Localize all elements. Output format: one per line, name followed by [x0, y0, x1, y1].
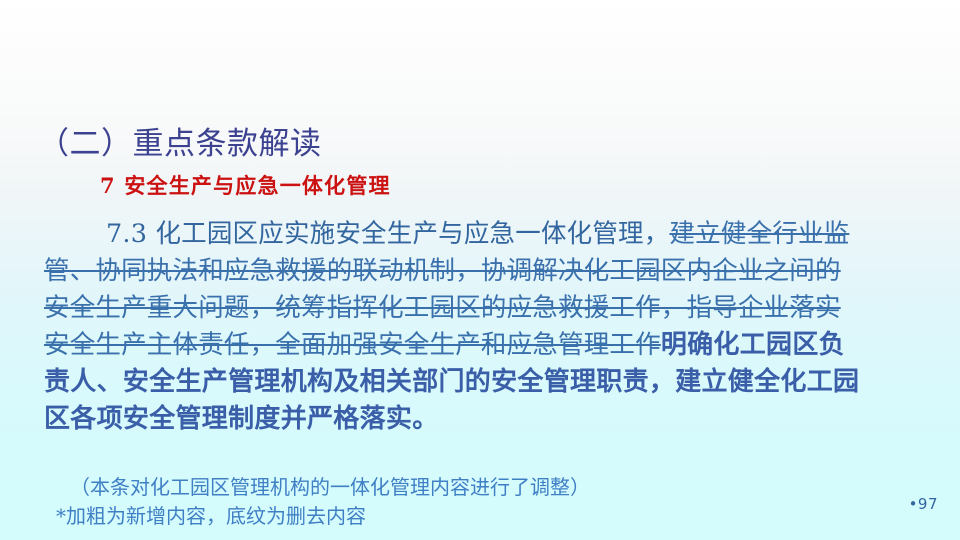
footnotes-block: （本条对化工园区管理机构的一体化管理内容进行了调整） *加粗为新增内容，底纹为删…	[56, 473, 590, 531]
deleted-text-run: 建立健全行业监	[669, 219, 849, 249]
body-line: 管、协同执法和应急救援的联动机制，协调解决化工园区内企业之间的	[44, 253, 920, 290]
body-line: 安全生产重大问题，统筹指挥化工园区的应急救援工作，指导企业落实	[44, 290, 920, 327]
body-line: 责人、安全生产管理机构及相关部门的安全管理职责，建立健全化工园	[44, 364, 920, 401]
deleted-text-run: 安全生产主体责任，全面加强安全生产和应急管理工作	[44, 330, 661, 360]
clause-body-text: 7.3 化工园区应实施安全生产与应急一体化管理，建立健全行业监管、协同执法和应急…	[44, 216, 920, 438]
footnote-adjustment-note: （本条对化工园区管理机构的一体化管理内容进行了调整）	[56, 473, 590, 502]
added-text-run: 区各项安全管理制度并严格落实。	[44, 404, 439, 434]
page-number: •97	[909, 495, 938, 513]
deleted-text-run: 安全生产重大问题，统筹指挥化工园区的应急救援工作，指导企业落实	[44, 293, 841, 323]
body-line: 区各项安全管理制度并严格落实。	[44, 401, 920, 438]
added-text-run: 明确化工园区负	[661, 330, 845, 360]
body-line: 安全生产主体责任，全面加强安全生产和应急管理工作明确化工园区负	[44, 327, 920, 364]
slide-canvas: （二）重点条款解读 7 安全生产与应急一体化管理 7.3 化工园区应实施安全生产…	[0, 0, 960, 540]
deleted-text-run: 管、协同执法和应急救援的联动机制，协调解决化工园区内企业之间的	[44, 256, 841, 286]
kept-text-run: 7.3 化工园区应实施安全生产与应急一体化管理，	[106, 219, 669, 249]
section-title: （二）重点条款解读	[38, 124, 322, 164]
added-text-run: 责人、安全生产管理机构及相关部门的安全管理职责，建立健全化工园	[44, 367, 859, 397]
footnote-legend-note: *加粗为新增内容，底纹为删去内容	[56, 502, 590, 531]
clause-heading: 7 安全生产与应急一体化管理	[100, 172, 391, 200]
body-line: 7.3 化工园区应实施安全生产与应急一体化管理，建立健全行业监	[44, 216, 920, 253]
